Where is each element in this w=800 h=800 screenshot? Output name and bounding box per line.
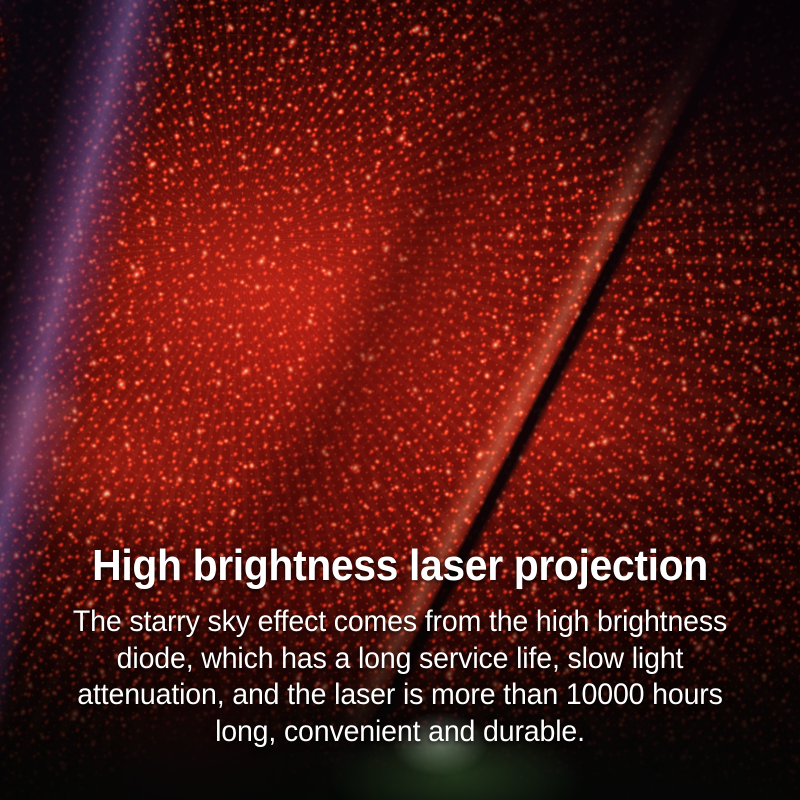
product-image: High brightness laser projection The sta… (0, 0, 800, 800)
body-copy-line: The starry sky effect comes from the hig… (60, 604, 740, 641)
body-copy-line: attenuation, and the laser is more than … (60, 677, 740, 714)
body-copy-line: long, convenient and durable. (60, 714, 740, 751)
headline: High brightness laser projection (28, 540, 772, 592)
marketing-text-block: High brightness laser projection The sta… (0, 540, 800, 750)
body-copy-line: diode, which has a long service life, sl… (60, 641, 740, 678)
body-copy: The starry sky effect comes from the hig… (20, 604, 780, 750)
